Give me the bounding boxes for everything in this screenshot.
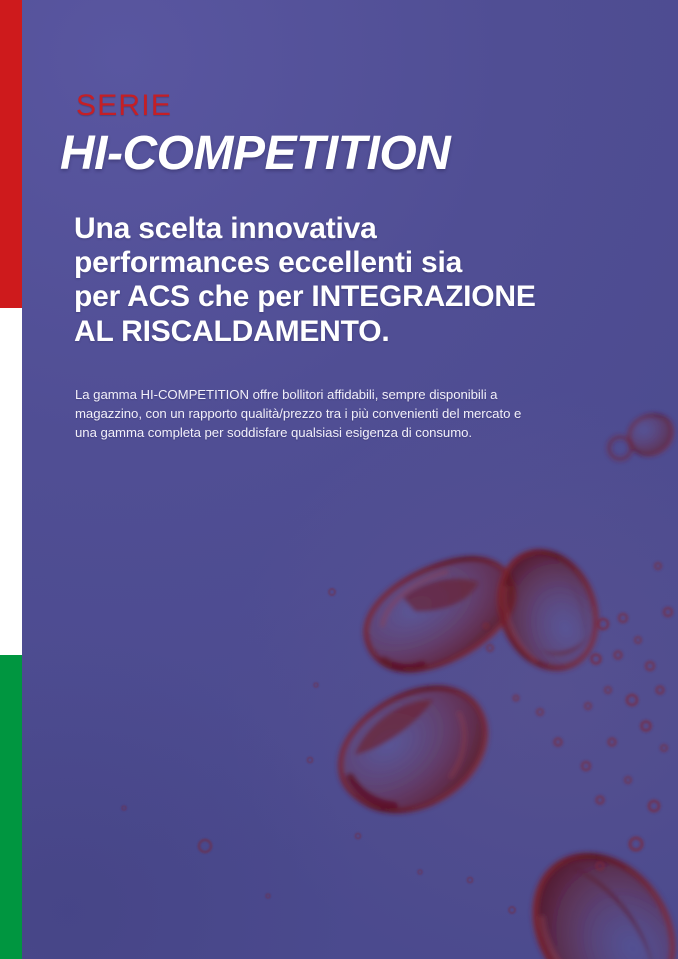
flag-stripe-green [0, 655, 22, 959]
cover-page: SERIE HI-COMPETITION Una scelta innovati… [0, 0, 678, 959]
headline-line-4: AL RISCALDAMENTO. [74, 315, 634, 349]
headline-line-3: per ACS che per INTEGRAZIONE [74, 280, 634, 314]
flag-stripe-red [0, 0, 22, 308]
page-title: HI-COMPETITION [60, 130, 450, 178]
headline-line-1: Una scelta innovativa [74, 212, 634, 246]
series-eyebrow: SERIE [76, 91, 172, 121]
body-paragraph: La gamma HI-COMPETITION offre bollitori … [75, 386, 527, 442]
italian-flag-stripe [0, 0, 22, 959]
headline-line-2: performances eccellenti sia [74, 246, 634, 280]
flag-stripe-white [0, 308, 22, 655]
headline: Una scelta innovativa performances eccel… [74, 212, 634, 349]
